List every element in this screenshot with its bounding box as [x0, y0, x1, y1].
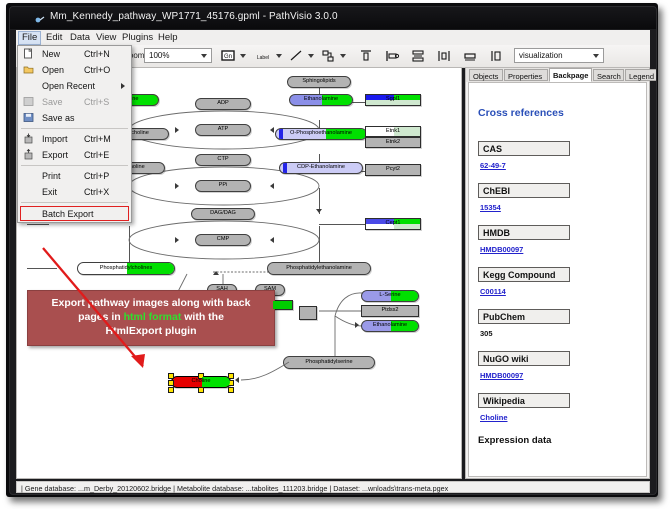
datanode-tool-icon[interactable]: Gn — [220, 48, 236, 64]
gene-cept1[interactable]: Cept1 — [365, 218, 421, 230]
node-sphingolipids[interactable]: Sphingolipids — [287, 76, 351, 88]
node-dag[interactable]: DAG/DAG — [191, 208, 255, 220]
menu-separator-3 — [21, 202, 128, 203]
node-adp[interactable]: ADP — [195, 98, 251, 110]
callout-line-1: Export pathway images along with back — [34, 296, 268, 310]
stack-vertical-icon[interactable] — [410, 48, 426, 64]
tab-properties[interactable]: Properties — [504, 69, 548, 81]
status-bar: | Gene database: ...m_Derby_20120602.bri… — [16, 481, 650, 493]
node-ctp[interactable]: CTP — [195, 154, 251, 166]
node-o-phosphoethanolamine[interactable]: O-Phosphoethanolamine — [275, 128, 367, 140]
xref-source-kegg: Kegg Compound — [478, 267, 570, 282]
label-dropdown-icon[interactable] — [276, 54, 282, 58]
side-panel-tabs: Objects Properties Backpage Search Legen… — [466, 68, 649, 82]
window-title: Mm_Kennedy_pathway_WP1771_45176.gpml - P… — [50, 11, 338, 22]
chevron-right-icon — [121, 83, 125, 89]
node-phosphatidylethanolamine[interactable]: Phosphatidylethanolamine — [267, 262, 371, 275]
callout-line-3: HtmlExport plugin — [34, 324, 268, 338]
xref-link-wikipedia[interactable]: Choline — [480, 413, 508, 422]
menu-item-open-accel: Ctrl+O — [84, 65, 110, 75]
gene-pcyt2[interactable]: Pcyt2 — [365, 164, 421, 176]
arrow-right-ppi — [175, 183, 179, 189]
menu-item-print[interactable]: Print Ctrl+P — [18, 168, 131, 184]
arrow-left-atp — [270, 127, 274, 133]
node-ppi[interactable]: PPi — [195, 180, 251, 192]
label-tool-icon[interactable]: Label — [252, 48, 274, 64]
menu-item-save-label: Save — [42, 97, 63, 107]
svg-text:Label: Label — [257, 55, 269, 61]
gene-ptdss2[interactable]: Ptdss2 — [361, 305, 419, 317]
screenshot-root: Mm_Kennedy_pathway_WP1771_45176.gpml - P… — [0, 0, 670, 509]
selection-handle-sw[interactable] — [168, 387, 174, 393]
menu-data[interactable]: Data — [66, 31, 94, 45]
menu-item-import-accel: Ctrl+M — [84, 134, 111, 144]
line-tool-icon[interactable] — [288, 48, 304, 64]
backpage-content[interactable]: Cross references CAS 62-49-7 ChEBI 15354… — [468, 82, 647, 477]
menu-item-import-label: Import — [42, 134, 68, 144]
menu-item-new-label: New — [42, 49, 60, 59]
callout-annotation: Export pathway images along with back pa… — [27, 290, 275, 346]
edge-to-cept1 — [319, 224, 365, 225]
gene-unlabeled-small[interactable] — [299, 306, 317, 320]
zoom-value: 100% — [149, 51, 169, 60]
node-cdp-ethanolamine[interactable]: CDP-Ethanolamine — [279, 162, 363, 174]
arrow-right-cmp — [175, 237, 179, 243]
side-panel: Objects Properties Backpage Search Legen… — [465, 67, 650, 479]
menu-item-export-label: Export — [42, 150, 68, 160]
menu-item-save-as[interactable]: Save as — [18, 110, 131, 126]
gene-etnk1[interactable]: Etnk1 — [365, 126, 421, 137]
node-ethanolamine-right[interactable]: Ethanolamine — [361, 320, 419, 332]
new-file-icon — [23, 48, 34, 59]
gene-expression-b — [273, 301, 293, 309]
menu-edit[interactable]: Edit — [42, 31, 66, 45]
menu-separator-1 — [21, 128, 128, 129]
tab-search[interactable]: Search — [593, 69, 624, 81]
node-ethanolamine-top[interactable]: Ethanolamine — [289, 94, 353, 106]
xref-link-hmdb[interactable]: HMDB00097 — [480, 245, 523, 254]
gene-sgpl1[interactable]: Sgpl1 — [365, 94, 421, 106]
title-bar: Mm_Kennedy_pathway_WP1771_45176.gpml - P… — [10, 7, 656, 29]
menu-item-open-recent-label: Open Recent — [42, 81, 95, 91]
menu-file[interactable]: File — [18, 31, 41, 45]
xref-source-nugo: NuGO wiki — [478, 351, 570, 366]
menu-view[interactable]: View — [92, 31, 120, 45]
tab-legend[interactable]: Legend — [625, 69, 657, 81]
menu-item-export-accel: Ctrl+E — [84, 150, 109, 160]
visualization-combobox[interactable]: visualization — [514, 48, 604, 63]
save-icon — [23, 96, 34, 107]
datanode-dropdown-icon[interactable] — [240, 54, 246, 58]
file-menu-dropdown[interactable]: New Ctrl+N Open Ctrl+O Open Recent Save … — [17, 45, 132, 223]
selection-handle-s[interactable] — [198, 387, 204, 393]
menu-item-new-accel: Ctrl+N — [84, 49, 110, 59]
line-dropdown-icon[interactable] — [308, 54, 314, 58]
xref-source-cas: CAS — [478, 141, 570, 156]
arrow-left-choline-sel — [235, 377, 239, 383]
node-expression-half-a — [283, 163, 287, 173]
cross-references-heading: Cross references — [478, 107, 564, 119]
menu-item-exit-accel: Ctrl+X — [84, 187, 109, 197]
arrow-up-ptdcholine — [213, 271, 219, 275]
node-cmp[interactable]: CMP — [195, 234, 251, 246]
interaction-dropdown-icon[interactable] — [340, 54, 346, 58]
arrow-left-ppi — [270, 183, 274, 189]
menu-item-new[interactable]: New Ctrl+N — [18, 46, 131, 62]
menu-item-exit-label: Exit — [42, 187, 57, 197]
menu-plugins[interactable]: Plugins — [118, 31, 157, 45]
tab-backpage[interactable]: Backpage — [549, 68, 592, 82]
same-height-icon[interactable] — [488, 48, 504, 64]
align-top-icon[interactable] — [358, 48, 374, 64]
expression-data-heading: Expression data — [478, 435, 551, 446]
arrow-right-atp — [175, 127, 179, 133]
open-folder-icon — [23, 64, 34, 75]
menu-bar: File Edit Data View Plugins Help — [16, 30, 650, 46]
xref-value-pubchem: 305 — [480, 329, 493, 338]
edge-choline-selected — [229, 360, 299, 390]
xref-link-nugo[interactable]: HMDB00097 — [480, 371, 523, 380]
xref-link-chebi[interactable]: 15354 — [480, 203, 501, 212]
node-atp[interactable]: ATP — [195, 124, 251, 136]
callout-line-2b: with the — [181, 311, 224, 323]
menu-item-open-recent[interactable]: Open Recent — [18, 78, 131, 94]
callout-line-2a: pages in — [78, 311, 124, 323]
node-phosphatidylcholines[interactable]: Phosphatidylcholines — [77, 262, 175, 275]
menu-item-save-as-label: Save as — [42, 113, 75, 123]
menu-item-export[interactable]: Export Ctrl+E — [18, 147, 131, 163]
align-left-icon[interactable] — [384, 48, 400, 64]
edge-left-4 — [27, 224, 49, 225]
xref-source-chebi: ChEBI — [478, 183, 570, 198]
distribute-horizontal-icon[interactable] — [436, 48, 452, 64]
xref-link-cas[interactable]: 62-49-7 — [480, 161, 506, 170]
menu-item-save: Save Ctrl+S — [18, 94, 131, 110]
menu-item-save-accel: Ctrl+S — [84, 97, 109, 107]
interaction-tool-icon[interactable] — [320, 48, 336, 64]
xref-link-kegg[interactable]: C00114 — [480, 287, 506, 296]
menu-item-open-label: Open — [42, 65, 64, 75]
import-icon — [23, 133, 34, 144]
node-l-serine[interactable]: L-Serine — [361, 290, 419, 302]
arrow-right-ethanolamine — [355, 322, 359, 328]
pathvisio-window: Mm_Kennedy_pathway_WP1771_45176.gpml - P… — [9, 6, 657, 495]
tab-objects[interactable]: Objects — [469, 69, 503, 81]
xref-source-wikipedia: Wikipedia — [478, 393, 570, 408]
xref-source-pubchem: PubChem — [478, 309, 570, 324]
menu-help[interactable]: Help — [154, 31, 182, 45]
menu-item-print-accel: Ctrl+P — [84, 171, 109, 181]
chevron-down-icon — [593, 54, 599, 58]
node-expression-half-a — [279, 129, 283, 139]
pathvisio-icon — [34, 13, 45, 24]
menu-item-exit[interactable]: Exit Ctrl+X — [18, 184, 131, 200]
menu-item-print-label: Print — [42, 171, 61, 181]
visualization-value: visualization — [519, 51, 563, 60]
chevron-down-icon — [201, 54, 207, 58]
menu-item-open[interactable]: Open Ctrl+O — [18, 62, 131, 78]
svg-text:Gn: Gn — [224, 54, 232, 60]
batch-export-highlight — [20, 206, 129, 221]
save-as-icon — [23, 112, 34, 123]
edge-left-5 — [27, 268, 57, 269]
same-width-icon[interactable] — [462, 48, 478, 64]
gene-etnk2[interactable]: Etnk2 — [365, 137, 421, 148]
callout-line-2: pages in html format with the — [34, 310, 268, 324]
menu-separator-2 — [21, 165, 128, 166]
selection-handle-nw[interactable] — [168, 373, 174, 379]
arrow-left-cmp — [270, 237, 274, 243]
xref-source-hmdb: HMDB — [478, 225, 570, 240]
menu-item-import[interactable]: Import Ctrl+M — [18, 131, 131, 147]
zoom-combobox[interactable]: 100% — [144, 48, 212, 63]
export-icon — [23, 149, 34, 160]
selection-handle-w[interactable] — [168, 380, 174, 386]
callout-highlight: html format — [124, 311, 182, 323]
menu-item-batch-export[interactable]: Batch Export — [18, 205, 131, 222]
